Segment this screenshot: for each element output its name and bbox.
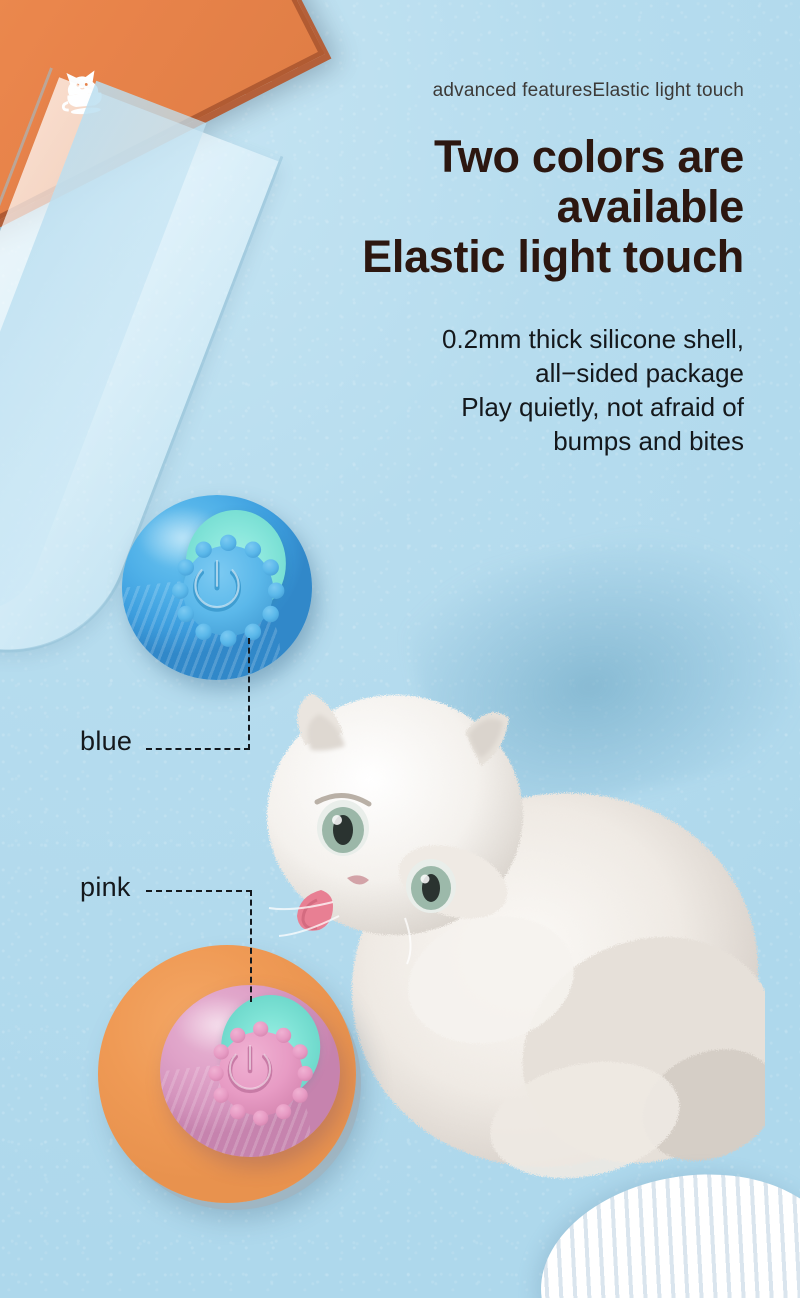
sub-copy: 0.2mm thick silicone shell, all−sided pa… [274, 322, 744, 458]
callout-line-pink-horizontal [146, 890, 252, 892]
callout-line-blue-horizontal [146, 748, 250, 750]
callout-line-blue-vertical [248, 638, 250, 750]
headline-line-2: available [224, 182, 744, 232]
product-promo-poster: blue [0, 0, 800, 1298]
power-icon [214, 1037, 286, 1106]
power-icon [179, 551, 255, 625]
headline-line-3: Elastic light touch [224, 232, 744, 282]
sub-copy-line-2: all−sided package [274, 356, 744, 390]
sub-copy-line-4: bumps and bites [274, 424, 744, 458]
blue-ball-product [122, 495, 312, 680]
callout-label-blue: blue [80, 726, 132, 757]
headline: Two colors are available Elastic light t… [224, 132, 744, 282]
eyebrow-text: advanced featuresElastic light touch [433, 80, 744, 102]
callout-label-pink: pink [80, 872, 131, 903]
callout-line-pink-vertical [250, 890, 252, 1002]
headline-line-1: Two colors are [224, 132, 744, 182]
sub-copy-line-1: 0.2mm thick silicone shell, [274, 322, 744, 356]
sub-copy-line-3: Play quietly, not afraid of [274, 390, 744, 424]
pink-ball-product [160, 985, 340, 1157]
